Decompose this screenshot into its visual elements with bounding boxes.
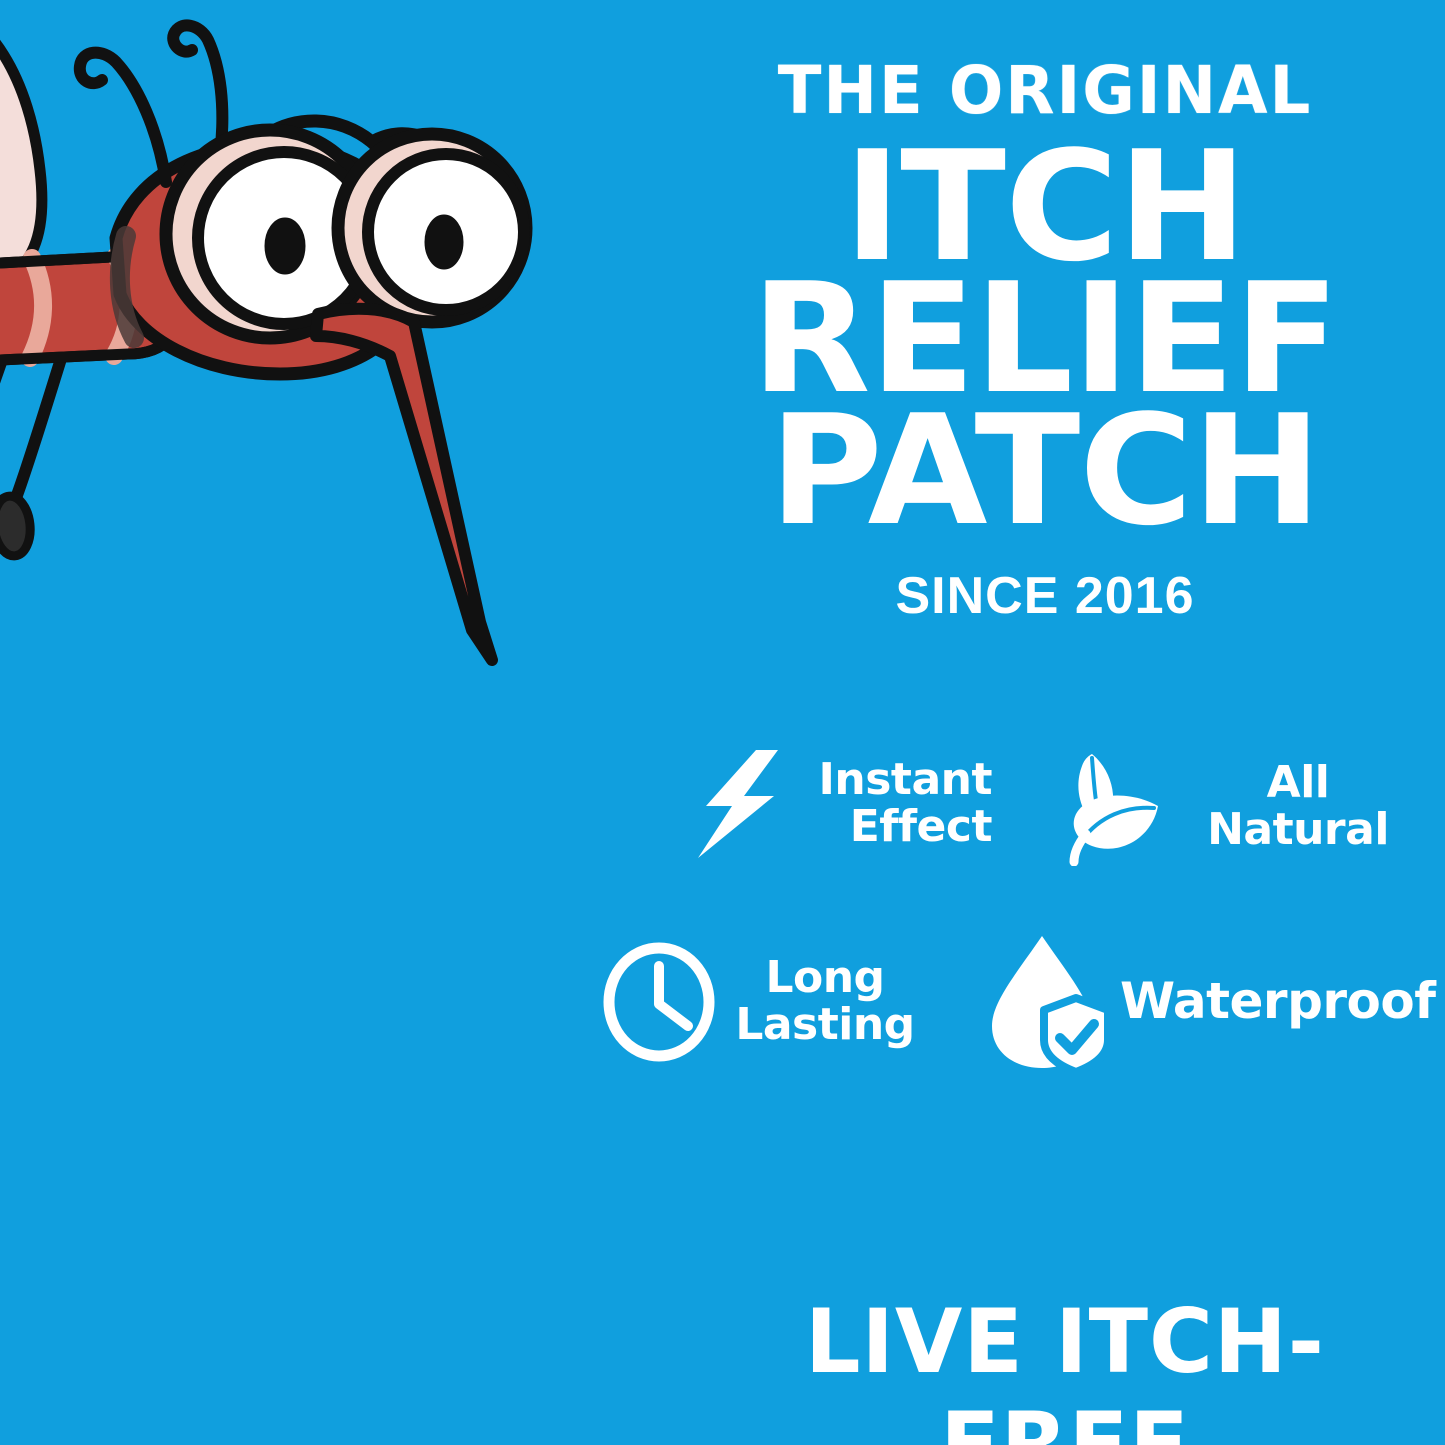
feature-waterproof: Waterproof (980, 930, 1440, 1072)
headline-block: THE ORIGINAL ITCH RELIEF PATCH SINCE 201… (660, 58, 1430, 626)
feature-label-waterproof: Waterproof (1120, 975, 1440, 1028)
water-drop-shield-icon (980, 930, 1110, 1072)
mosquito-eye-right (338, 134, 526, 322)
clock-icon (600, 940, 718, 1064)
kicker-text: THE ORIGINAL (672, 58, 1419, 124)
mosquito-wing-upper (0, 0, 42, 285)
feature-instant-effect: Instant Effect (688, 748, 998, 860)
leaf-icon (1048, 748, 1168, 866)
feature-long-lasting: Long Lasting (600, 940, 930, 1064)
mosquito-foot-right (0, 494, 33, 557)
feature-label-long-lasting: Long Lasting (730, 955, 920, 1048)
cartoon-mosquito-mascot (0, 0, 640, 710)
feature-label-all-natural: All Natural (1180, 760, 1416, 853)
lightning-bolt-icon (688, 748, 788, 860)
tagline-text: LIVE ITCH-FREE (704, 1290, 1427, 1445)
headline-line-patch: PATCH (652, 398, 1437, 544)
feature-all-natural: All Natural (1048, 748, 1428, 866)
product-marketing-image: THE ORIGINAL ITCH RELIEF PATCH SINCE 201… (0, 0, 1445, 1445)
since-text: SINCE 2016 (660, 566, 1430, 626)
feature-label-instant-effect: Instant Effect (802, 757, 992, 850)
